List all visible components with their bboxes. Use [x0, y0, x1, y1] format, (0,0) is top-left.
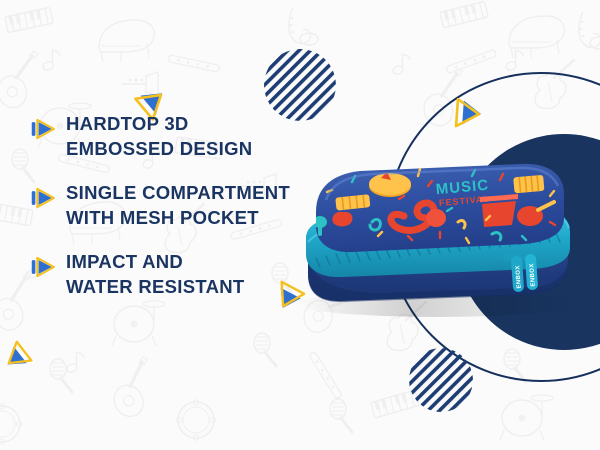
play-triangle-icon [30, 116, 56, 142]
triangle-accent-top-right [451, 95, 487, 131]
striped-circle-bottom [409, 348, 473, 412]
feature-label: SINGLE COMPARTMENT WITH MESH POCKET [66, 181, 290, 230]
feature-item-hardtop-3d-embossed-design: HARDTOP 3D EMBOSSED DESIGN [30, 112, 310, 161]
play-triangle-icon [30, 254, 56, 280]
feature-list: HARDTOP 3D EMBOSSED DESIGN SINGLE COMPAR… [30, 112, 310, 300]
feature-label: IMPACT AND WATER RESISTANT [66, 250, 245, 299]
striped-circle-top [264, 49, 336, 121]
feature-item-single-compartment-with-mesh-pocket: SINGLE COMPARTMENT WITH MESH POCKET [30, 181, 310, 230]
product-feature-banner: MUSIC FESTIVAL [0, 0, 600, 450]
feature-item-impact-and-water-resistant: IMPACT AND WATER RESISTANT [30, 250, 310, 299]
product-image-hardtop-pencil-case: MUSIC FESTIVAL [286, 160, 586, 320]
play-triangle-icon [30, 185, 56, 211]
feature-label: HARDTOP 3D EMBOSSED DESIGN [66, 112, 252, 161]
